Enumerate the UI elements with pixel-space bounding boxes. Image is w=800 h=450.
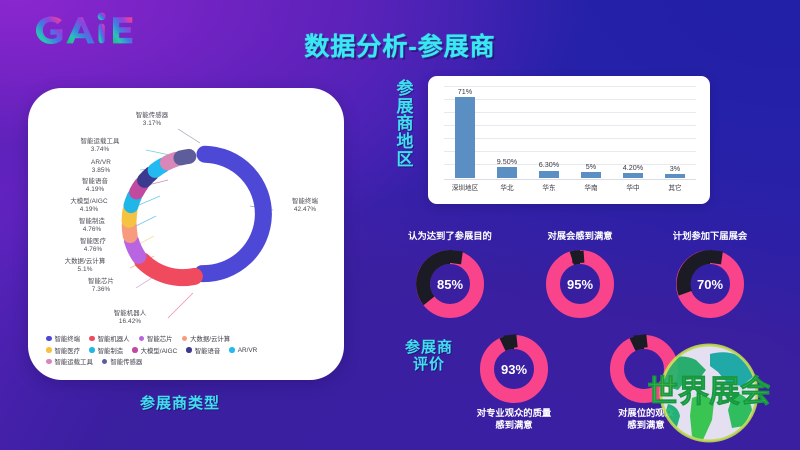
gauge-purpose: 85% [414, 248, 486, 320]
eval-title-line2: 评价 [383, 357, 475, 374]
gauge-next-show: 70% [674, 248, 746, 320]
bar-item[interactable]: 71% [444, 86, 486, 178]
donut-legend: 智能终端 智能机器人 智能芯片 大数据/云计算 智能医疗 [46, 334, 336, 369]
eval-title-line1: 参展商 [383, 340, 475, 357]
bar-x-label: 华北 [486, 182, 528, 192]
legend-label: 智能运载工具 [55, 357, 93, 366]
bar-value-label: 3% [670, 164, 680, 173]
bar-item[interactable]: 9.50% [486, 86, 528, 178]
donut-label-sensor: 智能传感器3.17% [116, 112, 188, 128]
legend-label: 智能传感器 [110, 357, 142, 366]
gauge-value: 93% [478, 333, 550, 405]
legend-label: 智能芯片 [147, 334, 173, 343]
bar-x-label: 华中 [612, 182, 654, 192]
legend-item-terminal[interactable]: 智能终端 [46, 334, 80, 343]
legend-item-aigc[interactable]: 大模型/AIGC [132, 346, 177, 355]
legend-item-chip[interactable]: 智能芯片 [139, 334, 173, 343]
bar-value-label: 9.50% [497, 157, 517, 166]
legend-row: 智能运载工具 智能传感器 [46, 357, 336, 366]
gauge-value: 70% [674, 248, 746, 320]
donut-label-medical: 智能医疗4.76% [58, 238, 128, 254]
watermark-text: 世界展会 [648, 374, 770, 409]
bar-axis-line [444, 179, 696, 180]
gauge-label-audience-quality: 对专业观众的质量 感到满意 [456, 408, 572, 432]
slide-canvas: 数据分析-参展商 [0, 0, 800, 450]
legend-label: 大数据/云计算 [190, 334, 230, 343]
donut-label-robot: 智能机器人16.42% [90, 310, 170, 326]
legend-label: 智能语音 [195, 346, 221, 355]
legend-dot-icon [89, 347, 95, 353]
donut-label-manufacturing: 智能制造4.76% [56, 218, 128, 234]
legend-item-bigdata[interactable]: 大数据/云计算 [182, 334, 231, 343]
donut-label-chip: 智能芯片7.36% [66, 278, 136, 294]
exhibitor-type-card: 智能传感器3.17% 智能运载工具3.74% AR/VR3.85% 智能语音4.… [28, 88, 344, 380]
bar-rect [539, 171, 559, 179]
page-title: 数据分析-参展商 [280, 27, 520, 63]
exhibitor-type-donut-chart: 智能传感器3.17% 智能运载工具3.74% AR/VR3.85% 智能语音4.… [28, 88, 344, 336]
legend-dot-icon [229, 347, 235, 353]
legend-dot-icon [139, 336, 145, 342]
gauge-label-next-show: 计划参加下届展会 [640, 231, 780, 243]
bar-item[interactable]: 4.20% [612, 86, 654, 178]
bar-x-axis-labels: 深圳地区 华北 华东 华南 华中 其它 [444, 182, 696, 192]
bar-item[interactable]: 6.30% [528, 86, 570, 178]
bar-series: 71% 9.50% 6.30% 5% 4.20% [444, 86, 696, 178]
bar-item[interactable]: 3% [654, 86, 696, 178]
bar-x-label: 华东 [528, 182, 570, 192]
legend-dot-icon [46, 359, 52, 365]
donut-label-voice: 智能语音4.19% [60, 178, 130, 194]
donut-label-arvr: AR/VR3.85% [68, 159, 134, 175]
gauge-value: 85% [414, 248, 486, 320]
legend-dot-icon [89, 336, 95, 342]
legend-label: AR/VR [238, 347, 258, 354]
legend-item-voice[interactable]: 智能语音 [186, 346, 220, 355]
legend-label: 智能医疗 [55, 346, 81, 355]
legend-item-manufacturing[interactable]: 智能制造 [89, 346, 123, 355]
legend-dot-icon [102, 359, 108, 365]
bar-rect [623, 173, 643, 178]
legend-label: 大模型/AIGC [141, 346, 178, 355]
gauge-label-line1: 对专业观众的质量 [456, 408, 572, 420]
legend-label: 智能制造 [98, 346, 124, 355]
gauge-value: 95% [544, 248, 616, 320]
gaie-logo [25, 8, 145, 50]
bar-rect [665, 174, 685, 178]
bar-rect [497, 167, 517, 178]
exhibitor-type-caption: 参展商类型 [85, 392, 275, 413]
exhibitor-evaluation-title: 参展商 评价 [383, 340, 475, 374]
legend-label: 智能终端 [55, 334, 81, 343]
bar-value-label: 4.20% [623, 163, 643, 172]
legend-item-robot[interactable]: 智能机器人 [89, 334, 129, 343]
legend-row: 智能医疗 智能制造 大模型/AIGC 智能语音 AR/VR [46, 346, 336, 355]
globe-watermark: 世界展会 [648, 332, 770, 450]
bar-x-label: 其它 [654, 182, 696, 192]
bar-item[interactable]: 5% [570, 86, 612, 178]
gauge-satisfied: 95% [544, 248, 616, 320]
gauge-audience-quality: 93% [478, 333, 550, 405]
bar-plot-area: 71% 9.50% 6.30% 5% 4.20% [444, 86, 696, 178]
legend-item-sensor[interactable]: 智能传感器 [102, 357, 142, 366]
donut-label-vehicle: 智能运载工具3.74% [60, 138, 140, 154]
exhibitor-region-card: 71% 9.50% 6.30% 5% 4.20% [428, 76, 710, 204]
legend-item-arvr[interactable]: AR/VR [229, 346, 257, 355]
donut-label-bigdata: 大数据/云计算5.1% [42, 258, 128, 274]
legend-label: 智能机器人 [98, 334, 130, 343]
legend-dot-icon [46, 336, 52, 342]
bar-x-label: 华南 [570, 182, 612, 192]
gauge-label-purpose: 认为达到了参展目的 [380, 231, 520, 243]
gauge-label-line2: 感到满意 [456, 420, 572, 432]
bar-rect [455, 97, 475, 178]
legend-dot-icon [186, 347, 192, 353]
legend-dot-icon [46, 347, 52, 353]
legend-item-medical[interactable]: 智能医疗 [46, 346, 80, 355]
legend-dot-icon [132, 347, 138, 353]
bar-value-label: 6.30% [539, 160, 559, 169]
bar-value-label: 5% [586, 162, 596, 171]
bar-rect [581, 172, 601, 178]
bar-x-label: 深圳地区 [444, 182, 486, 192]
donut-label-aigc: 大模型/AIGC4.19% [50, 198, 128, 214]
gauge-label-satisfied: 对展会感到满意 [520, 231, 640, 243]
legend-item-vehicle[interactable]: 智能运载工具 [46, 357, 93, 366]
legend-row: 智能终端 智能机器人 智能芯片 大数据/云计算 [46, 334, 336, 343]
exhibitor-region-vertical-title: 参展商地区 [392, 80, 418, 168]
legend-dot-icon [182, 336, 188, 342]
bar-value-label: 71% [458, 87, 472, 96]
donut-label-terminal: 智能终端42.47% [274, 198, 336, 214]
